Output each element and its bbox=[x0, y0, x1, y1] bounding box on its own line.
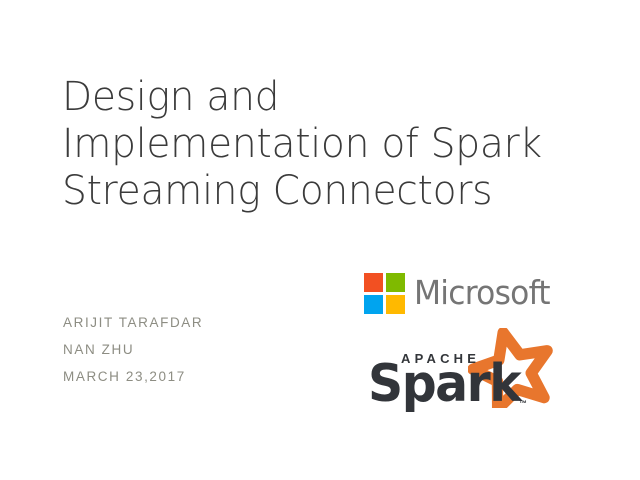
subtitle: ARIJIT TARAFDAR NAN ZHU MARCH 23,2017 bbox=[63, 309, 343, 390]
spark-wordmark: Spark bbox=[368, 358, 520, 410]
title-line-2: Implementation of Spark bbox=[62, 121, 552, 168]
slide-canvas: Design and Implementation of Spark Strea… bbox=[0, 0, 640, 480]
title-line-1: Design and bbox=[62, 74, 552, 121]
title-line-3: Streaming Connectors bbox=[62, 168, 552, 215]
microsoft-square-green-icon bbox=[386, 273, 405, 292]
microsoft-square-red-icon bbox=[364, 273, 383, 292]
spark-trademark-symbol: ™ bbox=[519, 400, 527, 408]
presentation-date: MARCH 23,2017 bbox=[63, 363, 343, 390]
author-name-2: NAN ZHU bbox=[63, 336, 343, 363]
microsoft-square-blue-icon bbox=[364, 295, 383, 314]
microsoft-squares-icon bbox=[364, 273, 405, 314]
microsoft-wordmark: Microsoft bbox=[414, 276, 550, 309]
page-title: Design and Implementation of Spark Strea… bbox=[62, 74, 562, 215]
microsoft-logo: Microsoft bbox=[364, 271, 557, 315]
author-name-1: ARIJIT TARAFDAR bbox=[63, 309, 343, 336]
apache-spark-logo: APACHE Spark ™ bbox=[368, 328, 568, 420]
microsoft-square-yellow-icon bbox=[386, 295, 405, 314]
